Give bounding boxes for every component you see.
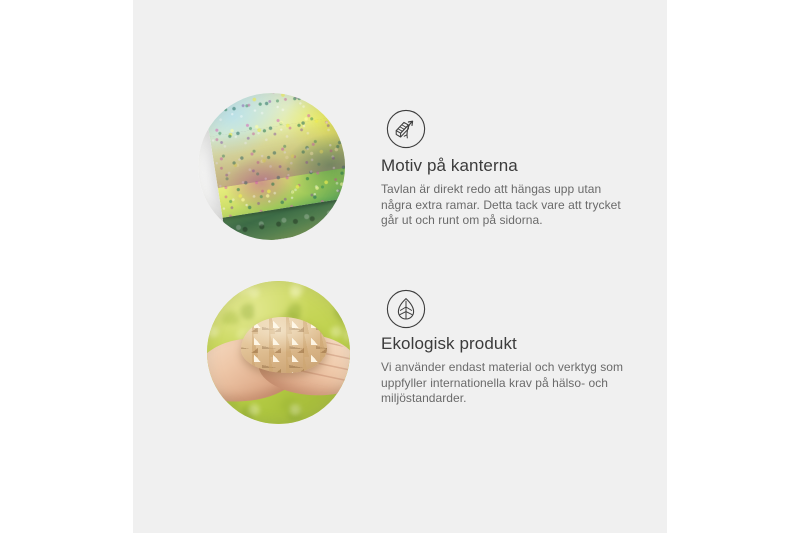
product-feature-panel: Motiv på kanterna Tavlan är direkt redo … (0, 0, 800, 533)
feature-title: Motiv på kanterna (381, 155, 631, 176)
canvas-printed-face (203, 93, 345, 218)
feature-description: Tavlan är direkt redo att hängas upp uta… (381, 182, 631, 229)
feature-description: Vi använder endast material och verktyg … (381, 360, 643, 407)
feature-text-ekologisk-produkt: Ekologisk produkt Vi använder endast mat… (381, 333, 643, 407)
wood-chips-pile (241, 317, 327, 373)
leaf-icon (386, 289, 426, 334)
content-background (133, 0, 667, 533)
feature-title: Ekologisk produkt (381, 333, 643, 354)
canvas-corner-photo (198, 93, 345, 240)
canvas-block (203, 93, 345, 240)
feature-text-motiv-pa-kanterna: Motiv på kanterna Tavlan är direkt redo … (381, 155, 631, 229)
canvas-wrapped-edge-icon (386, 109, 426, 154)
hands-wood-chips-photo (207, 281, 350, 424)
